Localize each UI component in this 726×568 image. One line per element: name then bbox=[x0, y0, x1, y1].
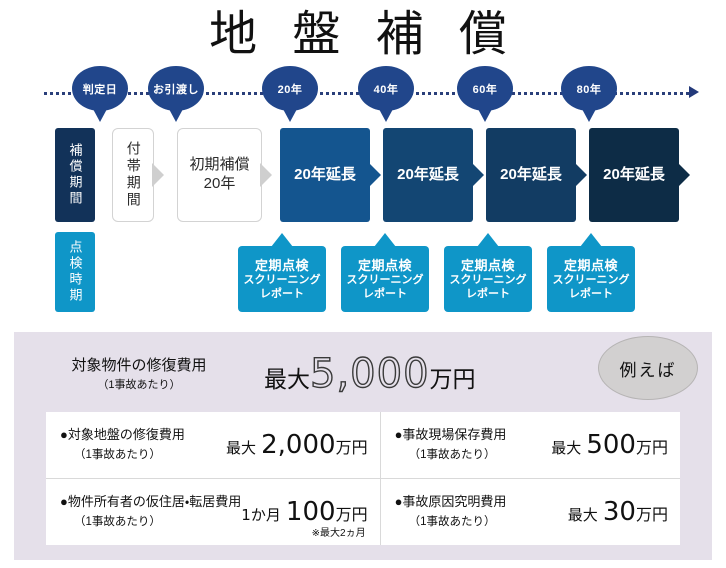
inspection-title: 定期点検 bbox=[358, 258, 412, 274]
coverage-amount-prefix: 最大 bbox=[568, 506, 598, 524]
timeline-node-0[interactable]: 判定日 bbox=[72, 66, 128, 111]
inspection-line3: レポート bbox=[569, 288, 613, 302]
inspection-callout-1[interactable]: 定期点検 スクリーニング レポート bbox=[238, 246, 326, 312]
coverage-cell-sublabel: （1事故あたり） bbox=[60, 513, 241, 533]
coverage-cell-label: ●対象地盤の修復費用 bbox=[60, 427, 185, 442]
inspection-row: 点検時期 定期点検 スクリーニング レポート 定期点検 スクリーニング レポート… bbox=[0, 232, 726, 318]
coverage-amount-unit: 万円 bbox=[336, 438, 368, 457]
arrow-right-icon bbox=[689, 86, 699, 98]
coverage-panel: 対象物件の修復費用 （1事故あたり） 最大5,000万円 例えば ●対象地盤の修… bbox=[14, 332, 712, 560]
coverage-cell-temporary-housing[interactable]: ●物件所有者の仮住居・転居費用 （1事故あたり） 1か月 100万円 ※最大2ヵ… bbox=[46, 479, 381, 546]
timeline-node-label: 判定日 bbox=[83, 81, 118, 97]
inspection-line2: スクリーニング bbox=[553, 274, 630, 288]
period-box-label: 20年延長 bbox=[397, 166, 459, 185]
coverage-cell-sublabel: （1事故あたり） bbox=[395, 446, 507, 466]
coverage-cell-label-group: ●事故原因究明費用 （1事故あたり） bbox=[395, 491, 507, 533]
coverage-amount-prefix: 1か月 bbox=[241, 506, 281, 524]
panel-header-label-group: 対象物件の修復費用 （1事故あたり） bbox=[14, 355, 264, 394]
timeline-node-label: お引渡し bbox=[153, 81, 199, 97]
coverage-cell-label-group: ●物件所有者の仮住居・転居費用 （1事故あたり） bbox=[60, 491, 241, 533]
coverage-amount-number: 30 bbox=[603, 497, 636, 527]
page-title: 地 盤 補 償 bbox=[0, 4, 726, 64]
period-box-label: 初期補償 20年 bbox=[189, 156, 249, 194]
panel-header-amount-prefix: 最大 bbox=[264, 360, 310, 394]
period-box-label: 20年延長 bbox=[603, 166, 665, 185]
period-box-extension-2[interactable]: 20年延長 bbox=[383, 128, 473, 222]
inspection-title: 定期点検 bbox=[255, 258, 309, 274]
coverage-cell-sublabel: （1事故あたり） bbox=[60, 446, 185, 466]
coverage-table: ●対象地盤の修復費用 （1事故あたり） 最大 2,000万円 ●事故現場保存費用… bbox=[46, 412, 680, 545]
compensation-period-row: 補償期間 付帯期間 初期補償 20年 20年延長 20年延長 20年延長 20年… bbox=[0, 128, 726, 226]
panel-header-sublabel: （1事故あたり） bbox=[14, 377, 264, 394]
period-box-initial[interactable]: 初期補償 20年 bbox=[177, 128, 262, 222]
timeline-node-label: 20年 bbox=[278, 81, 303, 97]
inspection-line2: スクリーニング bbox=[450, 274, 527, 288]
coverage-cell-amount: 最大 30万円 bbox=[506, 497, 668, 527]
coverage-cell-cause-investigation[interactable]: ●事故原因究明費用 （1事故あたり） 最大 30万円 bbox=[381, 479, 680, 546]
coverage-amount-number: 2,000 bbox=[261, 430, 335, 460]
compensation-period-label: 補償期間 bbox=[55, 128, 95, 222]
period-box-label: 20年延長 bbox=[500, 166, 562, 185]
panel-header-amount-number: 5,000 bbox=[310, 351, 430, 397]
inspection-callout-3[interactable]: 定期点検 スクリーニング レポート bbox=[444, 246, 532, 312]
example-bubble: 例えば bbox=[598, 336, 698, 400]
coverage-amount-unit: 万円 bbox=[336, 505, 368, 524]
panel-header-amount: 最大5,000万円 bbox=[264, 351, 574, 397]
coverage-amount-number: 500 bbox=[586, 430, 636, 460]
inspection-line3: レポート bbox=[466, 288, 510, 302]
panel-header-amount-unit: 万円 bbox=[430, 360, 476, 394]
timeline-node-label: 40年 bbox=[374, 81, 399, 97]
coverage-cell-note: ※最大2ヵ月 bbox=[312, 524, 366, 539]
inspection-title: 定期点検 bbox=[461, 258, 515, 274]
inspection-title: 定期点検 bbox=[564, 258, 618, 274]
coverage-cell-site-preservation[interactable]: ●事故現場保存費用 （1事故あたり） 最大 500万円 bbox=[381, 412, 680, 479]
coverage-amount-prefix: 最大 bbox=[551, 439, 581, 457]
inspection-callout-2[interactable]: 定期点検 スクリーニング レポート bbox=[341, 246, 429, 312]
period-box-label: 付帯期間 bbox=[124, 141, 142, 209]
timeline: 判定日 お引渡し 20年 40年 60年 80年 bbox=[0, 66, 726, 122]
inspection-line3: レポート bbox=[363, 288, 407, 302]
inspection-line2: スクリーニング bbox=[347, 274, 424, 288]
inspection-line3: レポート bbox=[260, 288, 304, 302]
timeline-node-2[interactable]: 20年 bbox=[262, 66, 318, 111]
period-box-extension-4[interactable]: 20年延長 bbox=[589, 128, 679, 222]
timeline-node-1[interactable]: お引渡し bbox=[148, 66, 204, 111]
inspection-callout-4[interactable]: 定期点検 スクリーニング レポート bbox=[547, 246, 635, 312]
coverage-cell-amount: 1か月 100万円 bbox=[241, 497, 367, 527]
coverage-amount-prefix: 最大 bbox=[226, 439, 256, 457]
coverage-amount-unit: 万円 bbox=[636, 505, 668, 524]
coverage-cell-ground-repair[interactable]: ●対象地盤の修復費用 （1事故あたり） 最大 2,000万円 bbox=[46, 412, 381, 479]
period-box-extension-1[interactable]: 20年延長 bbox=[280, 128, 370, 222]
period-box-incidental[interactable]: 付帯期間 bbox=[112, 128, 154, 222]
coverage-cell-label: ●事故原因究明費用 bbox=[395, 494, 507, 509]
coverage-cell-label-group: ●対象地盤の修復費用 （1事故あたり） bbox=[60, 424, 185, 466]
coverage-cell-amount: 最大 500万円 bbox=[506, 430, 668, 460]
coverage-cell-label-group: ●事故現場保存費用 （1事故あたり） bbox=[395, 424, 507, 466]
period-box-label: 20年延長 bbox=[294, 166, 356, 185]
example-bubble-label: 例えば bbox=[620, 356, 677, 381]
coverage-amount-number: 100 bbox=[286, 497, 336, 527]
period-box-extension-3[interactable]: 20年延長 bbox=[486, 128, 576, 222]
panel-header: 対象物件の修復費用 （1事故あたり） 最大5,000万円 bbox=[14, 342, 574, 406]
inspection-line2: スクリーニング bbox=[244, 274, 321, 288]
timeline-node-label: 80年 bbox=[577, 81, 602, 97]
coverage-cell-label: ●物件所有者の仮住居・転居費用 bbox=[60, 494, 241, 509]
coverage-amount-unit: 万円 bbox=[636, 438, 668, 457]
panel-header-label: 対象物件の修復費用 bbox=[14, 355, 264, 378]
timeline-node-3[interactable]: 40年 bbox=[358, 66, 414, 111]
coverage-cell-amount: 最大 2,000万円 bbox=[185, 430, 368, 460]
timeline-node-5[interactable]: 80年 bbox=[561, 66, 617, 111]
timeline-node-4[interactable]: 60年 bbox=[457, 66, 513, 111]
coverage-cell-sublabel: （1事故あたり） bbox=[395, 513, 507, 533]
coverage-cell-label: ●事故現場保存費用 bbox=[395, 427, 507, 442]
timeline-node-label: 60年 bbox=[473, 81, 498, 97]
inspection-period-label: 点検時期 bbox=[55, 232, 95, 312]
